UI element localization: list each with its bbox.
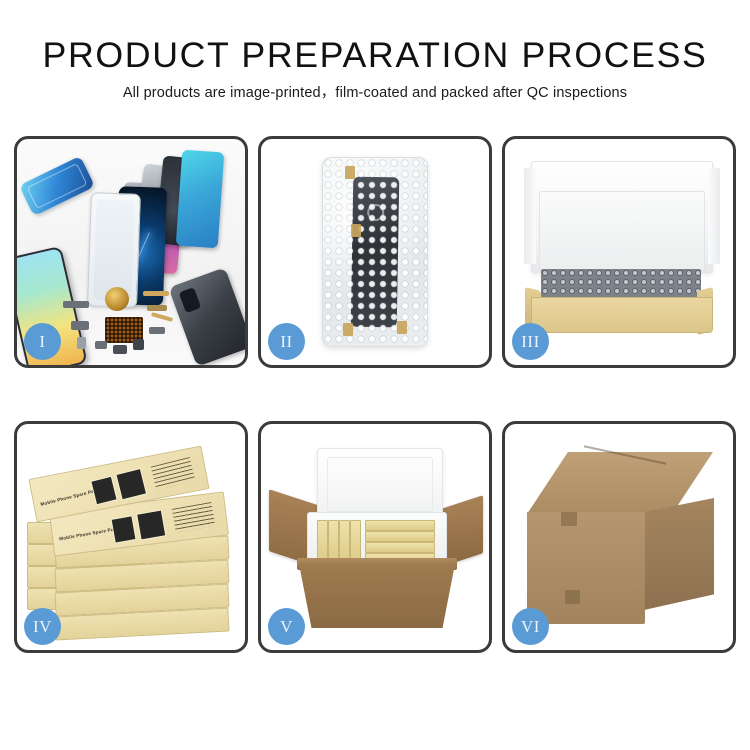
steps-grid: I II — [14, 136, 736, 653]
page-title: PRODUCT PREPARATION PROCESS — [0, 38, 750, 73]
step-panel-4: Mobile Phone Spare Parts Mobile Phone Sp… — [14, 421, 248, 653]
step-panel-5: V — [258, 421, 492, 653]
box-label-text: Mobile Phone Spare Parts — [59, 526, 120, 542]
step-panel-6: VI — [502, 421, 736, 653]
step-panel-2: II — [258, 136, 492, 368]
step-badge-5: V — [268, 608, 305, 645]
step-badge-4: IV — [24, 608, 61, 645]
header: PRODUCT PREPARATION PROCESS All products… — [0, 0, 750, 101]
step-panel-3: III — [502, 136, 736, 368]
step-badge-2: II — [268, 323, 305, 360]
page-subtitle: All products are image-printed，film-coat… — [0, 86, 750, 101]
step-badge-1: I — [24, 323, 61, 360]
product-preparation-infographic: PRODUCT PREPARATION PROCESS All products… — [0, 0, 750, 750]
step-panel-1: I — [14, 136, 248, 368]
step-badge-3: III — [512, 323, 549, 360]
step-badge-6: VI — [512, 608, 549, 645]
